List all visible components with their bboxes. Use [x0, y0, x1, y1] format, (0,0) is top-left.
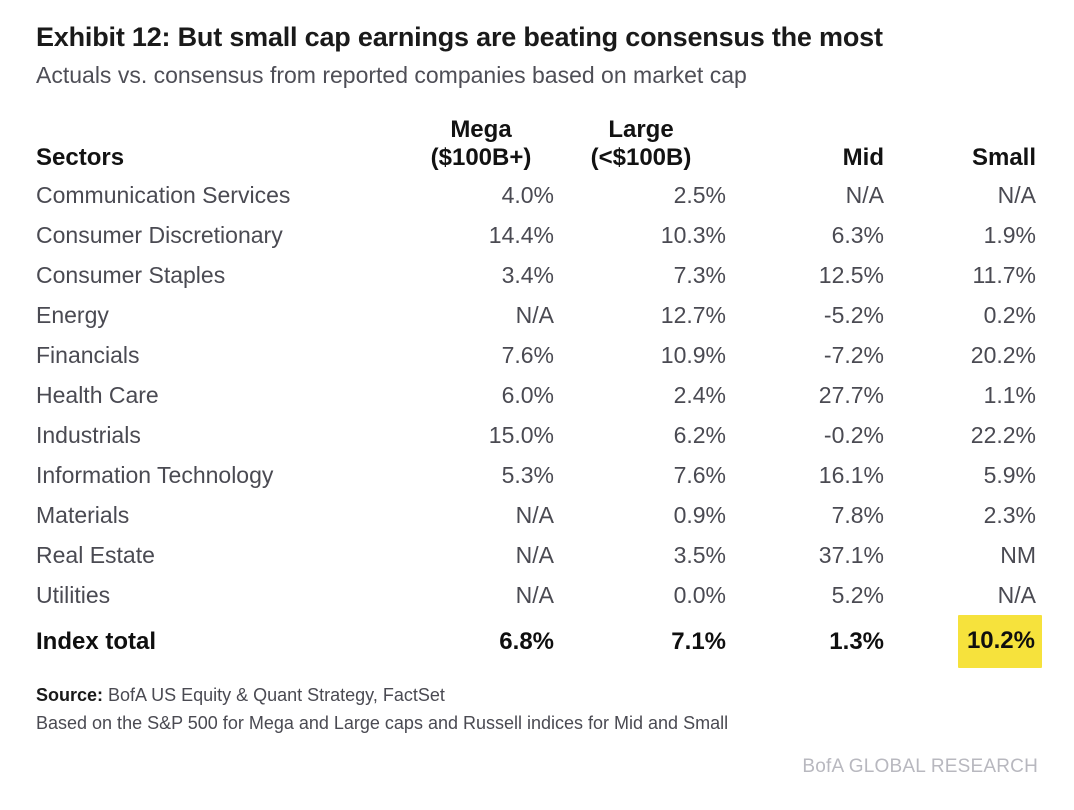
cell-mid: 27.7%: [728, 375, 886, 415]
research-attribution: BofA GLOBAL RESEARCH: [36, 756, 1038, 778]
cell-small: 11.7%: [886, 255, 1038, 295]
cell-mid: 7.8%: [728, 495, 886, 535]
cell-small: 1.1%: [886, 375, 1038, 415]
source-label: Source:: [36, 685, 103, 705]
row-label: Consumer Staples: [36, 255, 408, 295]
cell-small: 0.2%: [886, 295, 1038, 335]
cell-small: 22.2%: [886, 415, 1038, 455]
footnotes: Source: BofA US Equity & Quant Strategy,…: [36, 682, 1038, 738]
cell-mid: 37.1%: [728, 535, 886, 575]
row-label: Communication Services: [36, 175, 408, 215]
cell-small: 1.9%: [886, 215, 1038, 255]
row-label: Utilities: [36, 575, 408, 615]
cell-small: N/A: [886, 575, 1038, 615]
cell-small: 5.9%: [886, 455, 1038, 495]
cell-mega: 3.4%: [408, 255, 556, 295]
column-header-large-range: (<$100B): [556, 144, 726, 172]
table-body: Communication Services 4.0% 2.5% N/A N/A…: [36, 175, 1038, 668]
cell-large: 7.6%: [556, 455, 728, 495]
cell-mid: -7.2%: [728, 335, 886, 375]
exhibit-container: Exhibit 12: But small cap earnings are b…: [0, 0, 1074, 810]
cell-mega: N/A: [408, 295, 556, 335]
table-row: Communication Services 4.0% 2.5% N/A N/A: [36, 175, 1038, 215]
table-row: Financials 7.6% 10.9% -7.2% 20.2%: [36, 335, 1038, 375]
cell-large: 0.0%: [556, 575, 728, 615]
cell-mid: -0.2%: [728, 415, 886, 455]
exhibit-subtitle: Actuals vs. consensus from reported comp…: [36, 53, 1038, 90]
cell-small: N/A: [886, 175, 1038, 215]
row-label: Materials: [36, 495, 408, 535]
cell-large: 2.4%: [556, 375, 728, 415]
row-label: Industrials: [36, 415, 408, 455]
row-label: Information Technology: [36, 455, 408, 495]
cell-large: 0.9%: [556, 495, 728, 535]
cell-mid: 16.1%: [728, 455, 886, 495]
cell-mid: 5.2%: [728, 575, 886, 615]
cell-mega: 4.0%: [408, 175, 556, 215]
table-row-index-total: Index total 6.8% 7.1% 1.3% 10.2%: [36, 615, 1038, 668]
cell-large: 3.5%: [556, 535, 728, 575]
row-label: Real Estate: [36, 535, 408, 575]
cell-large: 10.3%: [556, 215, 728, 255]
cell-mega: N/A: [408, 575, 556, 615]
column-header-sectors: Sectors: [36, 116, 408, 176]
earnings-vs-consensus-table: Sectors Mega ($100B+) Large (<$100B) Mid…: [36, 116, 1038, 669]
row-label: Energy: [36, 295, 408, 335]
cell-total-small-highlighted: 10.2%: [886, 615, 1038, 668]
exhibit-title: Exhibit 12: But small cap earnings are b…: [36, 0, 1038, 53]
column-header-mid: Mid: [728, 116, 886, 176]
cell-mega: 14.4%: [408, 215, 556, 255]
table-header: Sectors Mega ($100B+) Large (<$100B) Mid…: [36, 116, 1038, 176]
cell-mega: 6.0%: [408, 375, 556, 415]
row-label-index-total: Index total: [36, 615, 408, 668]
column-header-large-title: Large: [556, 116, 726, 144]
cell-small: NM: [886, 535, 1038, 575]
table-row: Health Care 6.0% 2.4% 27.7% 1.1%: [36, 375, 1038, 415]
cell-mid: -5.2%: [728, 295, 886, 335]
column-header-mega: Mega ($100B+): [408, 116, 556, 176]
cell-mid: 12.5%: [728, 255, 886, 295]
cell-small: 2.3%: [886, 495, 1038, 535]
cell-total-mid: 1.3%: [728, 615, 886, 668]
cell-large: 7.3%: [556, 255, 728, 295]
cell-total-mega: 6.8%: [408, 615, 556, 668]
cell-mid: N/A: [728, 175, 886, 215]
highlight-marker: 10.2%: [958, 615, 1042, 668]
cell-large: 2.5%: [556, 175, 728, 215]
methodology-note: Based on the S&P 500 for Mega and Large …: [36, 710, 1038, 738]
source-text: BofA US Equity & Quant Strategy, FactSet: [103, 685, 445, 705]
cell-mega: N/A: [408, 495, 556, 535]
table-row: Real Estate N/A 3.5% 37.1% NM: [36, 535, 1038, 575]
table-row: Information Technology 5.3% 7.6% 16.1% 5…: [36, 455, 1038, 495]
column-header-small: Small: [886, 116, 1038, 176]
cell-small: 20.2%: [886, 335, 1038, 375]
cell-total-large: 7.1%: [556, 615, 728, 668]
table-row: Industrials 15.0% 6.2% -0.2% 22.2%: [36, 415, 1038, 455]
table-row: Energy N/A 12.7% -5.2% 0.2%: [36, 295, 1038, 335]
table-row: Consumer Staples 3.4% 7.3% 12.5% 11.7%: [36, 255, 1038, 295]
table-header-row: Sectors Mega ($100B+) Large (<$100B) Mid…: [36, 116, 1038, 176]
table-row: Utilities N/A 0.0% 5.2% N/A: [36, 575, 1038, 615]
table-row: Materials N/A 0.9% 7.8% 2.3%: [36, 495, 1038, 535]
cell-mega: 7.6%: [408, 335, 556, 375]
cell-mega: 15.0%: [408, 415, 556, 455]
column-header-mega-title: Mega: [408, 116, 554, 144]
cell-mid: 6.3%: [728, 215, 886, 255]
cell-large: 10.9%: [556, 335, 728, 375]
row-label: Health Care: [36, 375, 408, 415]
row-label: Consumer Discretionary: [36, 215, 408, 255]
table-row: Consumer Discretionary 14.4% 10.3% 6.3% …: [36, 215, 1038, 255]
source-line: Source: BofA US Equity & Quant Strategy,…: [36, 682, 1038, 710]
cell-mega: 5.3%: [408, 455, 556, 495]
cell-mega: N/A: [408, 535, 556, 575]
column-header-mega-range: ($100B+): [408, 144, 554, 172]
column-header-large: Large (<$100B): [556, 116, 728, 176]
row-label: Financials: [36, 335, 408, 375]
cell-large: 12.7%: [556, 295, 728, 335]
cell-large: 6.2%: [556, 415, 728, 455]
